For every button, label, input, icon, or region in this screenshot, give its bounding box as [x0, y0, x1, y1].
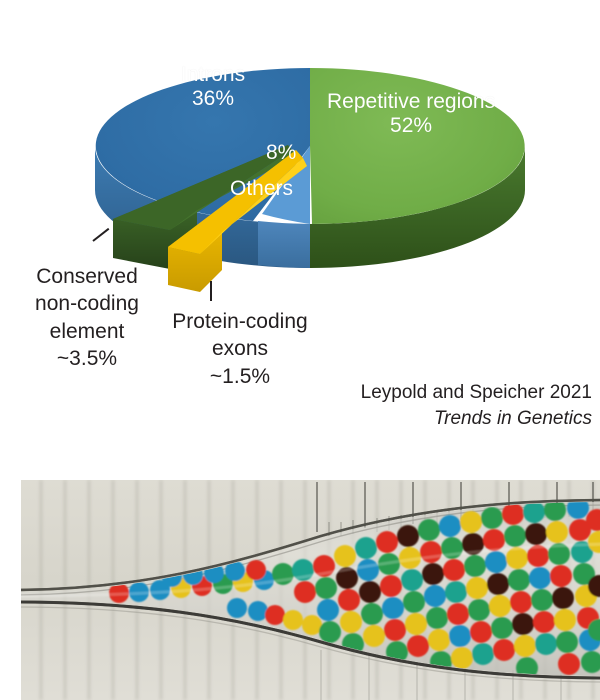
- callout-exons-line2: exons: [156, 335, 324, 362]
- figure-root: Repetitive regions 52% Introns 36% 8% Ot…: [0, 0, 600, 700]
- slice-label-introns-name: Introns: [181, 63, 245, 86]
- droplet-channel-photo: [21, 480, 600, 700]
- slice-label-introns: Introns 36%: [154, 63, 272, 110]
- callout-exons-value: ~1.5%: [156, 363, 324, 390]
- callout-conserved-value: ~3.5%: [22, 345, 152, 372]
- callout-conserved-non-coding-element: Conserved non-coding element ~3.5%: [22, 263, 152, 372]
- slice-label-others-value: 8%: [266, 141, 296, 165]
- pie-chart-svg: [0, 0, 600, 300]
- leader-line-exons: [210, 281, 212, 301]
- callout-exons-line1: Protein-coding: [156, 308, 324, 335]
- droplet-channel-photo-svg: [21, 480, 600, 700]
- slice-label-repetitive-name: Repetitive regions: [327, 90, 495, 113]
- slice-label-repetitive: Repetitive regions 52%: [327, 90, 495, 137]
- pie-chart-panel: Repetitive regions 52% Introns 36% 8% Ot…: [0, 0, 600, 460]
- citation-authors-year: Leypold and Speicher 2021: [361, 381, 592, 405]
- slice-label-others-name: Others: [230, 177, 293, 201]
- callout-conserved-line2: non-coding: [22, 290, 152, 317]
- callout-conserved-line1: Conserved: [22, 263, 152, 290]
- slice-label-introns-value: 36%: [154, 87, 272, 111]
- pie-side-others: [258, 221, 310, 268]
- callout-conserved-line3: element: [22, 318, 152, 345]
- slice-label-repetitive-value: 52%: [327, 114, 495, 138]
- citation-journal: Trends in Genetics: [434, 407, 592, 431]
- callout-protein-coding-exons: Protein-coding exons ~1.5%: [156, 308, 324, 390]
